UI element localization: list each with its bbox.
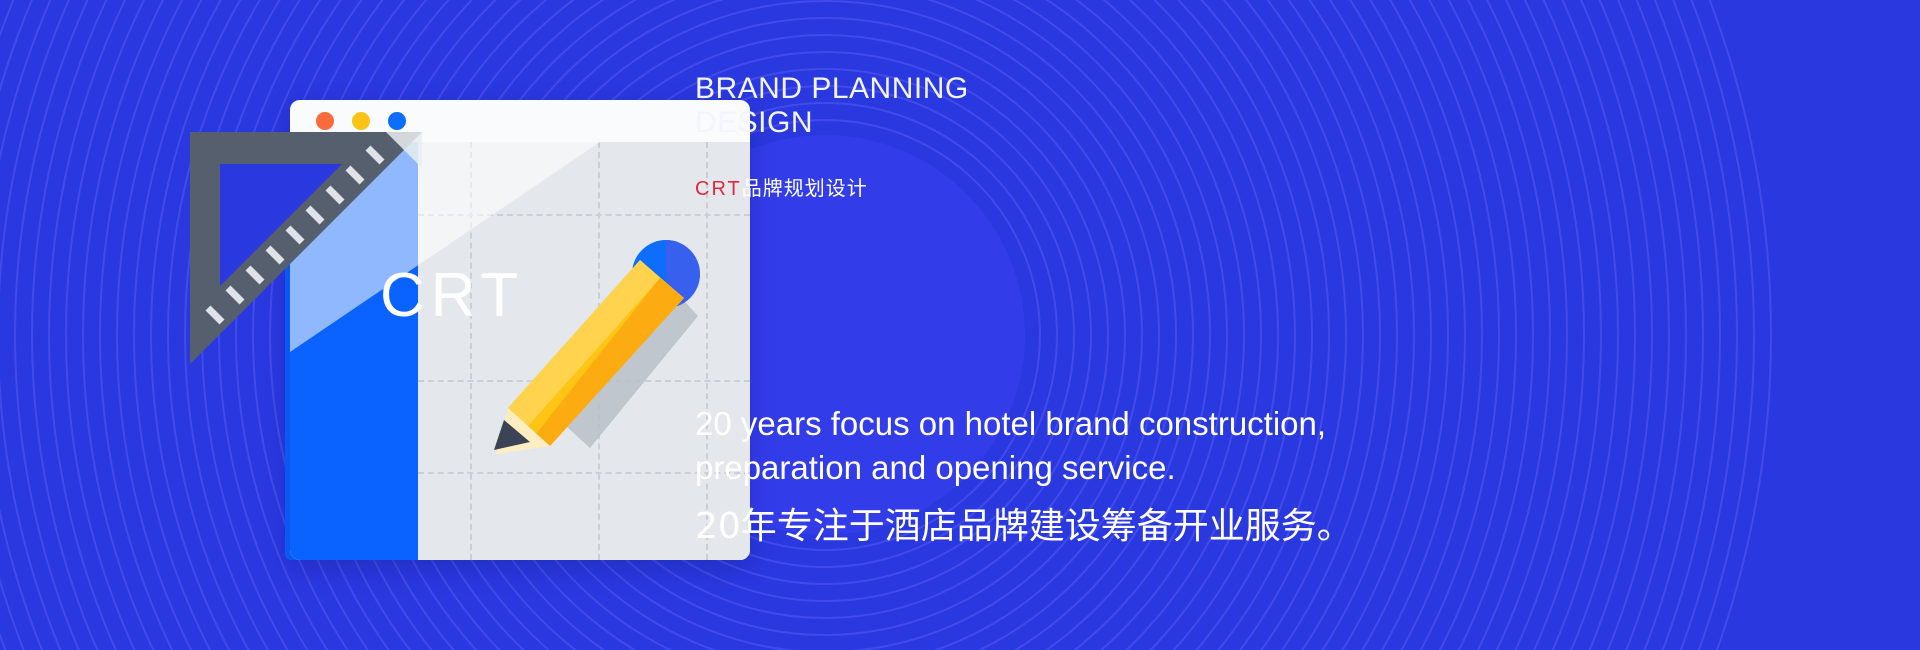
tagline-chinese: 20年专注于酒店品牌建设筹备开业服务。 [695, 504, 1353, 551]
subheading: CRT品牌规划设计 [695, 172, 868, 201]
page-title: BRAND PLANNING DESIGN [695, 72, 1255, 140]
tagline-english-line-1: 20 years focus on hotel brand constructi… [695, 402, 1355, 446]
tagline-english: 20 years focus on hotel brand constructi… [695, 402, 1355, 489]
subheading-brand: CRT [695, 178, 742, 200]
promo-banner: CRT [0, 0, 1920, 650]
heading-line-1: BRAND PLANNING [695, 72, 1255, 106]
tagline-english-line-2: preparation and opening service. [695, 446, 1355, 490]
banner-text-block: BRAND PLANNING DESIGN CRT品牌规划设计 20 years… [695, 0, 1795, 650]
triangle-ruler-icon [186, 128, 426, 368]
subheading-text: 品牌规划设计 [742, 178, 868, 200]
pencil-icon [470, 230, 700, 460]
heading-line-2: DESIGN [695, 106, 1255, 140]
